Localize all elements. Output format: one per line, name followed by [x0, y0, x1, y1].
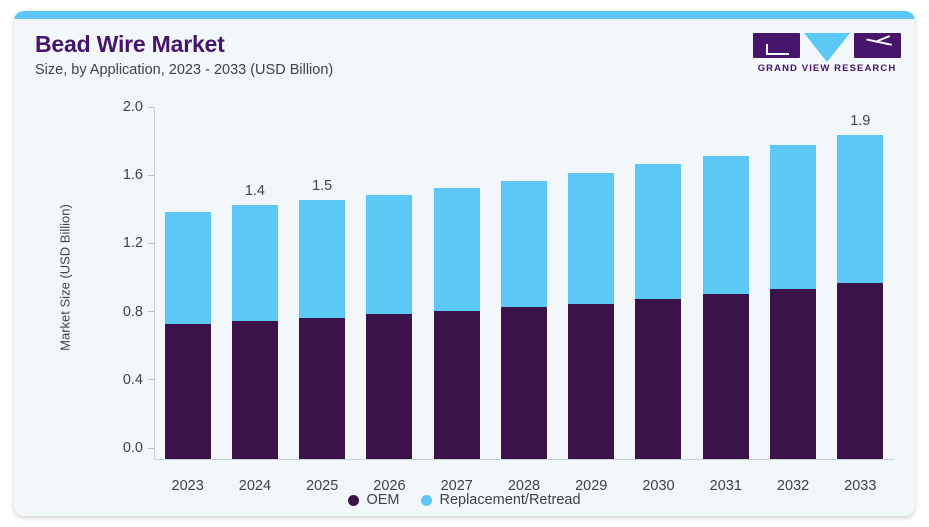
x-axis-line: [154, 459, 894, 460]
page-title: Bead Wire Market: [35, 32, 333, 57]
y-tick: 2.0: [96, 99, 154, 115]
brand-logo: GRAND VIEW RESEARCH: [751, 33, 903, 74]
bar-segment-replacement[interactable]: [366, 195, 412, 314]
y-tick-label: 1.2: [123, 235, 143, 251]
bar-stack[interactable]: [635, 164, 681, 459]
y-tick-label: 1.6: [123, 167, 143, 183]
bar-segment-oem[interactable]: [770, 289, 816, 460]
title-block: Bead Wire Market Size, by Application, 2…: [35, 32, 333, 78]
bar-column[interactable]: 1.9: [827, 113, 894, 459]
chart-header: Bead Wire Market Size, by Application, 2…: [14, 19, 915, 95]
y-tick-label: 0.4: [123, 372, 143, 388]
bar-column[interactable]: [490, 113, 557, 459]
bar-segment-replacement[interactable]: [635, 164, 681, 299]
card-accent-bar: [14, 11, 915, 19]
bar-segment-replacement[interactable]: [165, 212, 211, 325]
bar-segment-oem[interactable]: [635, 299, 681, 459]
bar-segment-oem[interactable]: [299, 318, 345, 460]
bar-segment-replacement[interactable]: [501, 181, 547, 307]
bar-segment-replacement[interactable]: [770, 145, 816, 288]
y-axis-title: Market Size (USD Billion): [58, 148, 73, 408]
bar-value-label: 1.5: [289, 178, 356, 194]
y-tick-label: 0.0: [123, 440, 143, 456]
bar-stack[interactable]: [703, 156, 749, 459]
legend-label: OEM: [366, 492, 399, 508]
bar-stack[interactable]: [434, 188, 480, 459]
bar-column[interactable]: [154, 113, 221, 459]
bar-segment-oem[interactable]: [703, 294, 749, 459]
chart-subtitle: Size, by Application, 2023 - 2033 (USD B…: [35, 62, 333, 78]
legend-item[interactable]: Replacement/Retread: [421, 492, 580, 508]
bar-segment-oem[interactable]: [501, 307, 547, 459]
plot-wrapper: Market Size (USD Billion) 2.01.61.20.80.…: [14, 95, 915, 516]
legend-color-swatch: [421, 495, 432, 506]
bar-column[interactable]: [759, 113, 826, 459]
bar-segment-replacement[interactable]: [837, 135, 883, 283]
chart-card: Bead Wire Market Size, by Application, 2…: [14, 11, 915, 516]
bar-column[interactable]: 1.4: [221, 113, 288, 459]
y-tick-label: 0.8: [123, 304, 143, 320]
legend-item[interactable]: OEM: [348, 492, 399, 508]
bar-stack[interactable]: [366, 195, 412, 459]
bar-stack[interactable]: [232, 205, 278, 459]
logo-r-icon: [854, 33, 901, 58]
bar-value-label: 1.4: [221, 183, 288, 199]
bar-stack[interactable]: [501, 181, 547, 459]
logo-v-icon: [804, 33, 850, 62]
bar-column[interactable]: [692, 113, 759, 459]
bar-column[interactable]: [558, 113, 625, 459]
logo-g-icon: [753, 33, 800, 58]
bar-segment-oem[interactable]: [232, 321, 278, 459]
bar-column[interactable]: [356, 113, 423, 459]
logo-marks: [751, 33, 903, 58]
plot-area: 1.41.51.9 202320242025202620272028202920…: [154, 95, 894, 516]
bar-column[interactable]: [423, 113, 490, 459]
chart-legend: OEMReplacement/Retread: [14, 492, 915, 508]
bar-segment-oem[interactable]: [366, 314, 412, 459]
bar-segment-oem[interactable]: [837, 283, 883, 459]
bar-segment-oem[interactable]: [165, 324, 211, 459]
y-tick: 0.8: [96, 304, 154, 320]
bar-segment-replacement[interactable]: [568, 173, 614, 304]
y-tick: 0.0: [96, 440, 154, 456]
bar-segment-oem[interactable]: [434, 311, 480, 459]
bar-segment-replacement[interactable]: [299, 200, 345, 318]
y-tick: 0.4: [96, 372, 154, 388]
bar-stack[interactable]: [568, 173, 614, 459]
y-tick: 1.6: [96, 167, 154, 183]
legend-color-swatch: [348, 495, 359, 506]
y-tick: 1.2: [96, 235, 154, 251]
y-axis-ticks: 2.01.61.20.80.40.0: [96, 95, 154, 516]
bar-column[interactable]: 1.5: [289, 113, 356, 459]
bar-segment-oem[interactable]: [568, 304, 614, 459]
bar-segment-replacement[interactable]: [232, 205, 278, 321]
legend-label: Replacement/Retread: [439, 492, 580, 508]
y-tick-label: 2.0: [123, 99, 143, 115]
bar-segment-replacement[interactable]: [703, 156, 749, 294]
bar-stack[interactable]: [770, 145, 816, 459]
bar-value-label: 1.9: [827, 113, 894, 129]
bar-stack[interactable]: [299, 200, 345, 459]
bar-group: 1.41.51.9: [154, 113, 894, 459]
bar-column[interactable]: [625, 113, 692, 459]
bar-stack[interactable]: [165, 212, 211, 459]
bar-segment-replacement[interactable]: [434, 188, 480, 311]
logo-text: GRAND VIEW RESEARCH: [751, 63, 903, 74]
bar-stack[interactable]: [837, 135, 883, 459]
